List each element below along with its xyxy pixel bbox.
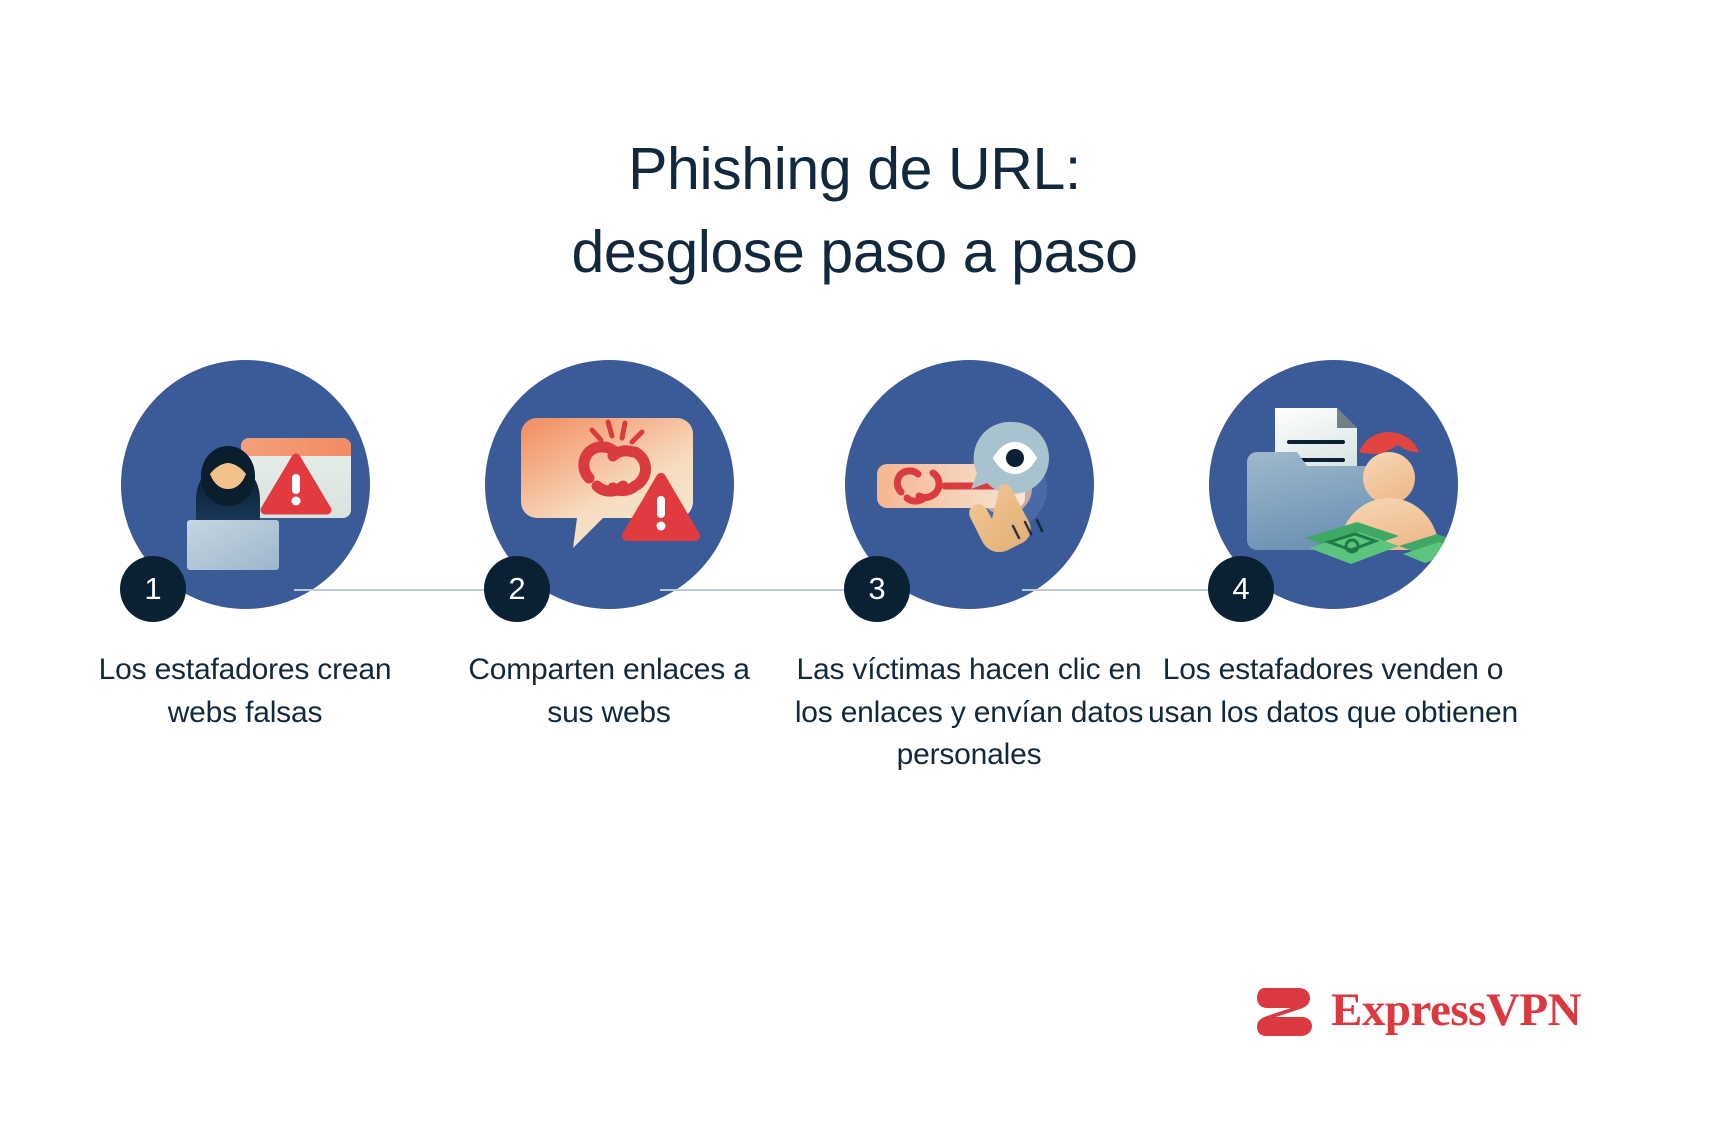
title-line-1: Phishing de URL: xyxy=(0,128,1709,212)
page-title: Phishing de URL: desglose paso a paso xyxy=(0,128,1709,296)
step-2-badge: 2 xyxy=(484,556,550,622)
step-1: 1 Los estafadores crean webs falsas xyxy=(80,360,410,734)
step-4-caption: Los estafadores venden o usan los datos … xyxy=(1143,649,1523,734)
expressvpn-logo[interactable]: ExpressVPN xyxy=(1255,980,1581,1040)
title-line-2: desglose paso a paso xyxy=(0,211,1709,295)
step-1-badge: 1 xyxy=(120,556,186,622)
step-2: 2 Comparten enlaces a sus webs xyxy=(444,360,774,734)
step-3-badge: 3 xyxy=(844,556,910,622)
step-3-caption: Las víctimas hacen clic en los enlaces y… xyxy=(779,649,1159,777)
step-4: 4 Los estafadores venden o usan los dato… xyxy=(1168,360,1498,734)
step-1-caption: Los estafadores crean webs falsas xyxy=(80,649,410,734)
step-3: 3 Las víctimas hacen clic en los enlaces… xyxy=(804,360,1134,777)
expressvpn-wordmark: ExpressVPN xyxy=(1331,983,1581,1037)
step-2-caption: Comparten enlaces a sus webs xyxy=(444,649,774,734)
steps-container: 1 Los estafadores crean webs falsas xyxy=(0,360,1709,840)
step-4-badge: 4 xyxy=(1208,556,1274,622)
expressvpn-e-mark-icon xyxy=(1255,980,1317,1040)
